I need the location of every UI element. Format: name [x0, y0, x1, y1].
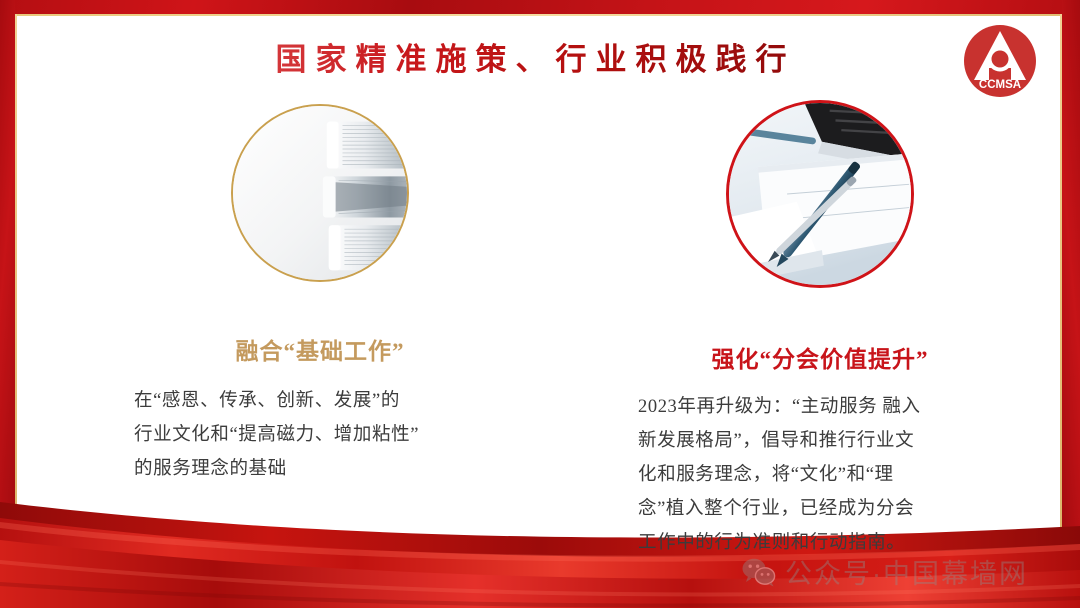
ccmsa-logo-text: CCMSA [979, 79, 1021, 91]
body-line: 新发展格局”，倡导和推行行业文 [638, 424, 1022, 458]
frame-gold-line-left [15, 14, 17, 574]
body-line: 工作中的行为准则和行动指南。 [638, 526, 1022, 560]
photo-books [231, 104, 409, 282]
body-line: 化和服务理念，将“文化”和“理 [638, 458, 1022, 492]
slide-title-text: 国家精准施策、行业积极践行 [276, 34, 805, 79]
content-column-left: 融合“基础工作” 在“感恩、传承、创新、发展”的 行业文化和“提高磁力、增加粘性… [118, 104, 522, 486]
photo-pens-laptop [726, 100, 914, 288]
card-body-right: 2023年再升级为：“主动服务 融入 新发展格局”，倡导和推行行业文 化和服务理… [618, 390, 1022, 560]
frame-gold-line-right [1060, 14, 1062, 574]
wechat-icon [742, 557, 776, 587]
body-line: 2023年再升级为：“主动服务 融入 [638, 390, 1022, 424]
body-line: 念”植入整个行业，已经成为分会 [638, 492, 1022, 526]
body-line: 在“感恩、传承、创新、发展”的 [134, 384, 522, 418]
content-column-right: 强化“分会价值提升” 2023年再升级为：“主动服务 融入 新发展格局”，倡导和… [618, 100, 1022, 560]
body-line: 行业文化和“提高磁力、增加粘性” [134, 418, 522, 452]
card-heading-right: 强化“分会价值提升” [618, 340, 1022, 374]
ccmsa-logo: CCMSA [963, 24, 1037, 98]
body-line: 的服务理念的基础 [134, 452, 522, 486]
frame-band-right [1062, 0, 1080, 608]
card-body-left: 在“感恩、传承、创新、发展”的 行业文化和“提高磁力、增加粘性” 的服务理念的基… [118, 384, 522, 486]
slide-title: 国家精准施策、行业积极践行 [0, 34, 1080, 79]
card-heading-left: 融合“基础工作” [118, 332, 522, 366]
frame-gold-line-top [0, 14, 1080, 16]
frame-band-top [0, 0, 1080, 14]
slide-canvas: 国家精准施策、行业积极践行 CCMSA [0, 0, 1080, 608]
frame-band-left [0, 0, 15, 608]
